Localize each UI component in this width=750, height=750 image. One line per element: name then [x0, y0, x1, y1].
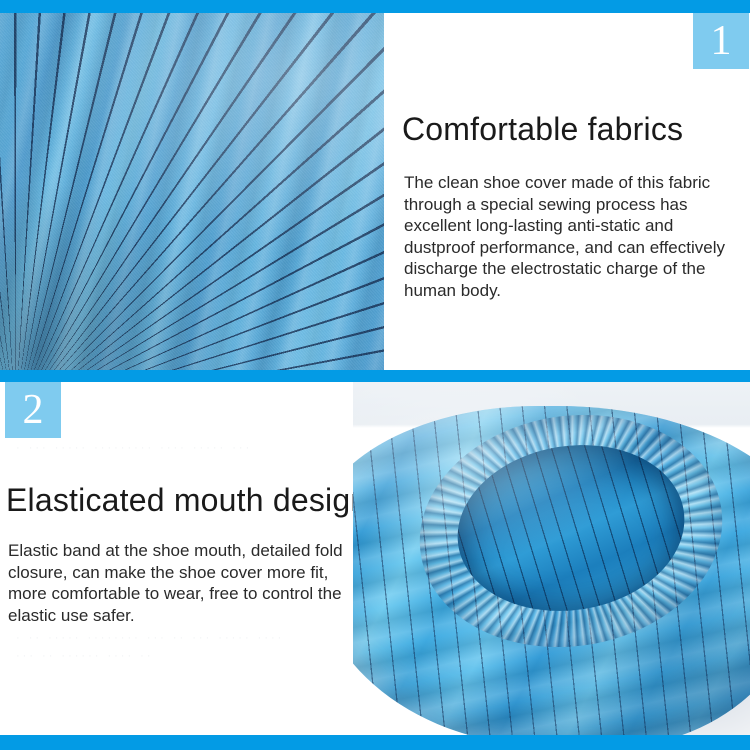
feature-2-number-badge: 2: [5, 382, 61, 438]
infographic-page: Comfortable fabrics The clean shoe cover…: [0, 0, 750, 750]
feature-1-number-badge: 1: [693, 13, 749, 69]
fabric-shading: [0, 13, 384, 370]
middle-accent-strip: [0, 370, 750, 382]
shoe-cover-photo: [353, 382, 750, 735]
feature-1-description: The clean shoe cover made of this fabric…: [404, 172, 746, 301]
fabric-photo: [0, 13, 384, 370]
feature-1-heading: Comfortable fabrics: [402, 111, 683, 148]
watermark-line-b: · ·· ····· ········ ··· ·· ··· ····· ···…: [16, 632, 346, 644]
feature-section-2: · ··· ····· ········· ···· ····· ··· · ·…: [0, 382, 750, 735]
top-accent-strip: [0, 0, 750, 13]
feature-section-1: Comfortable fabrics The clean shoe cover…: [0, 13, 750, 370]
feature-2-heading: Elasticated mouth design: [6, 482, 368, 519]
feature-2-description: Elastic band at the shoe mouth, detailed…: [8, 540, 344, 626]
watermark-line-a: · ··· ····· ········· ···· ····· ···: [16, 442, 346, 454]
bottom-accent-strip: [0, 735, 750, 750]
watermark-line-c: ··· ·· ······ ···· ··: [16, 650, 346, 662]
